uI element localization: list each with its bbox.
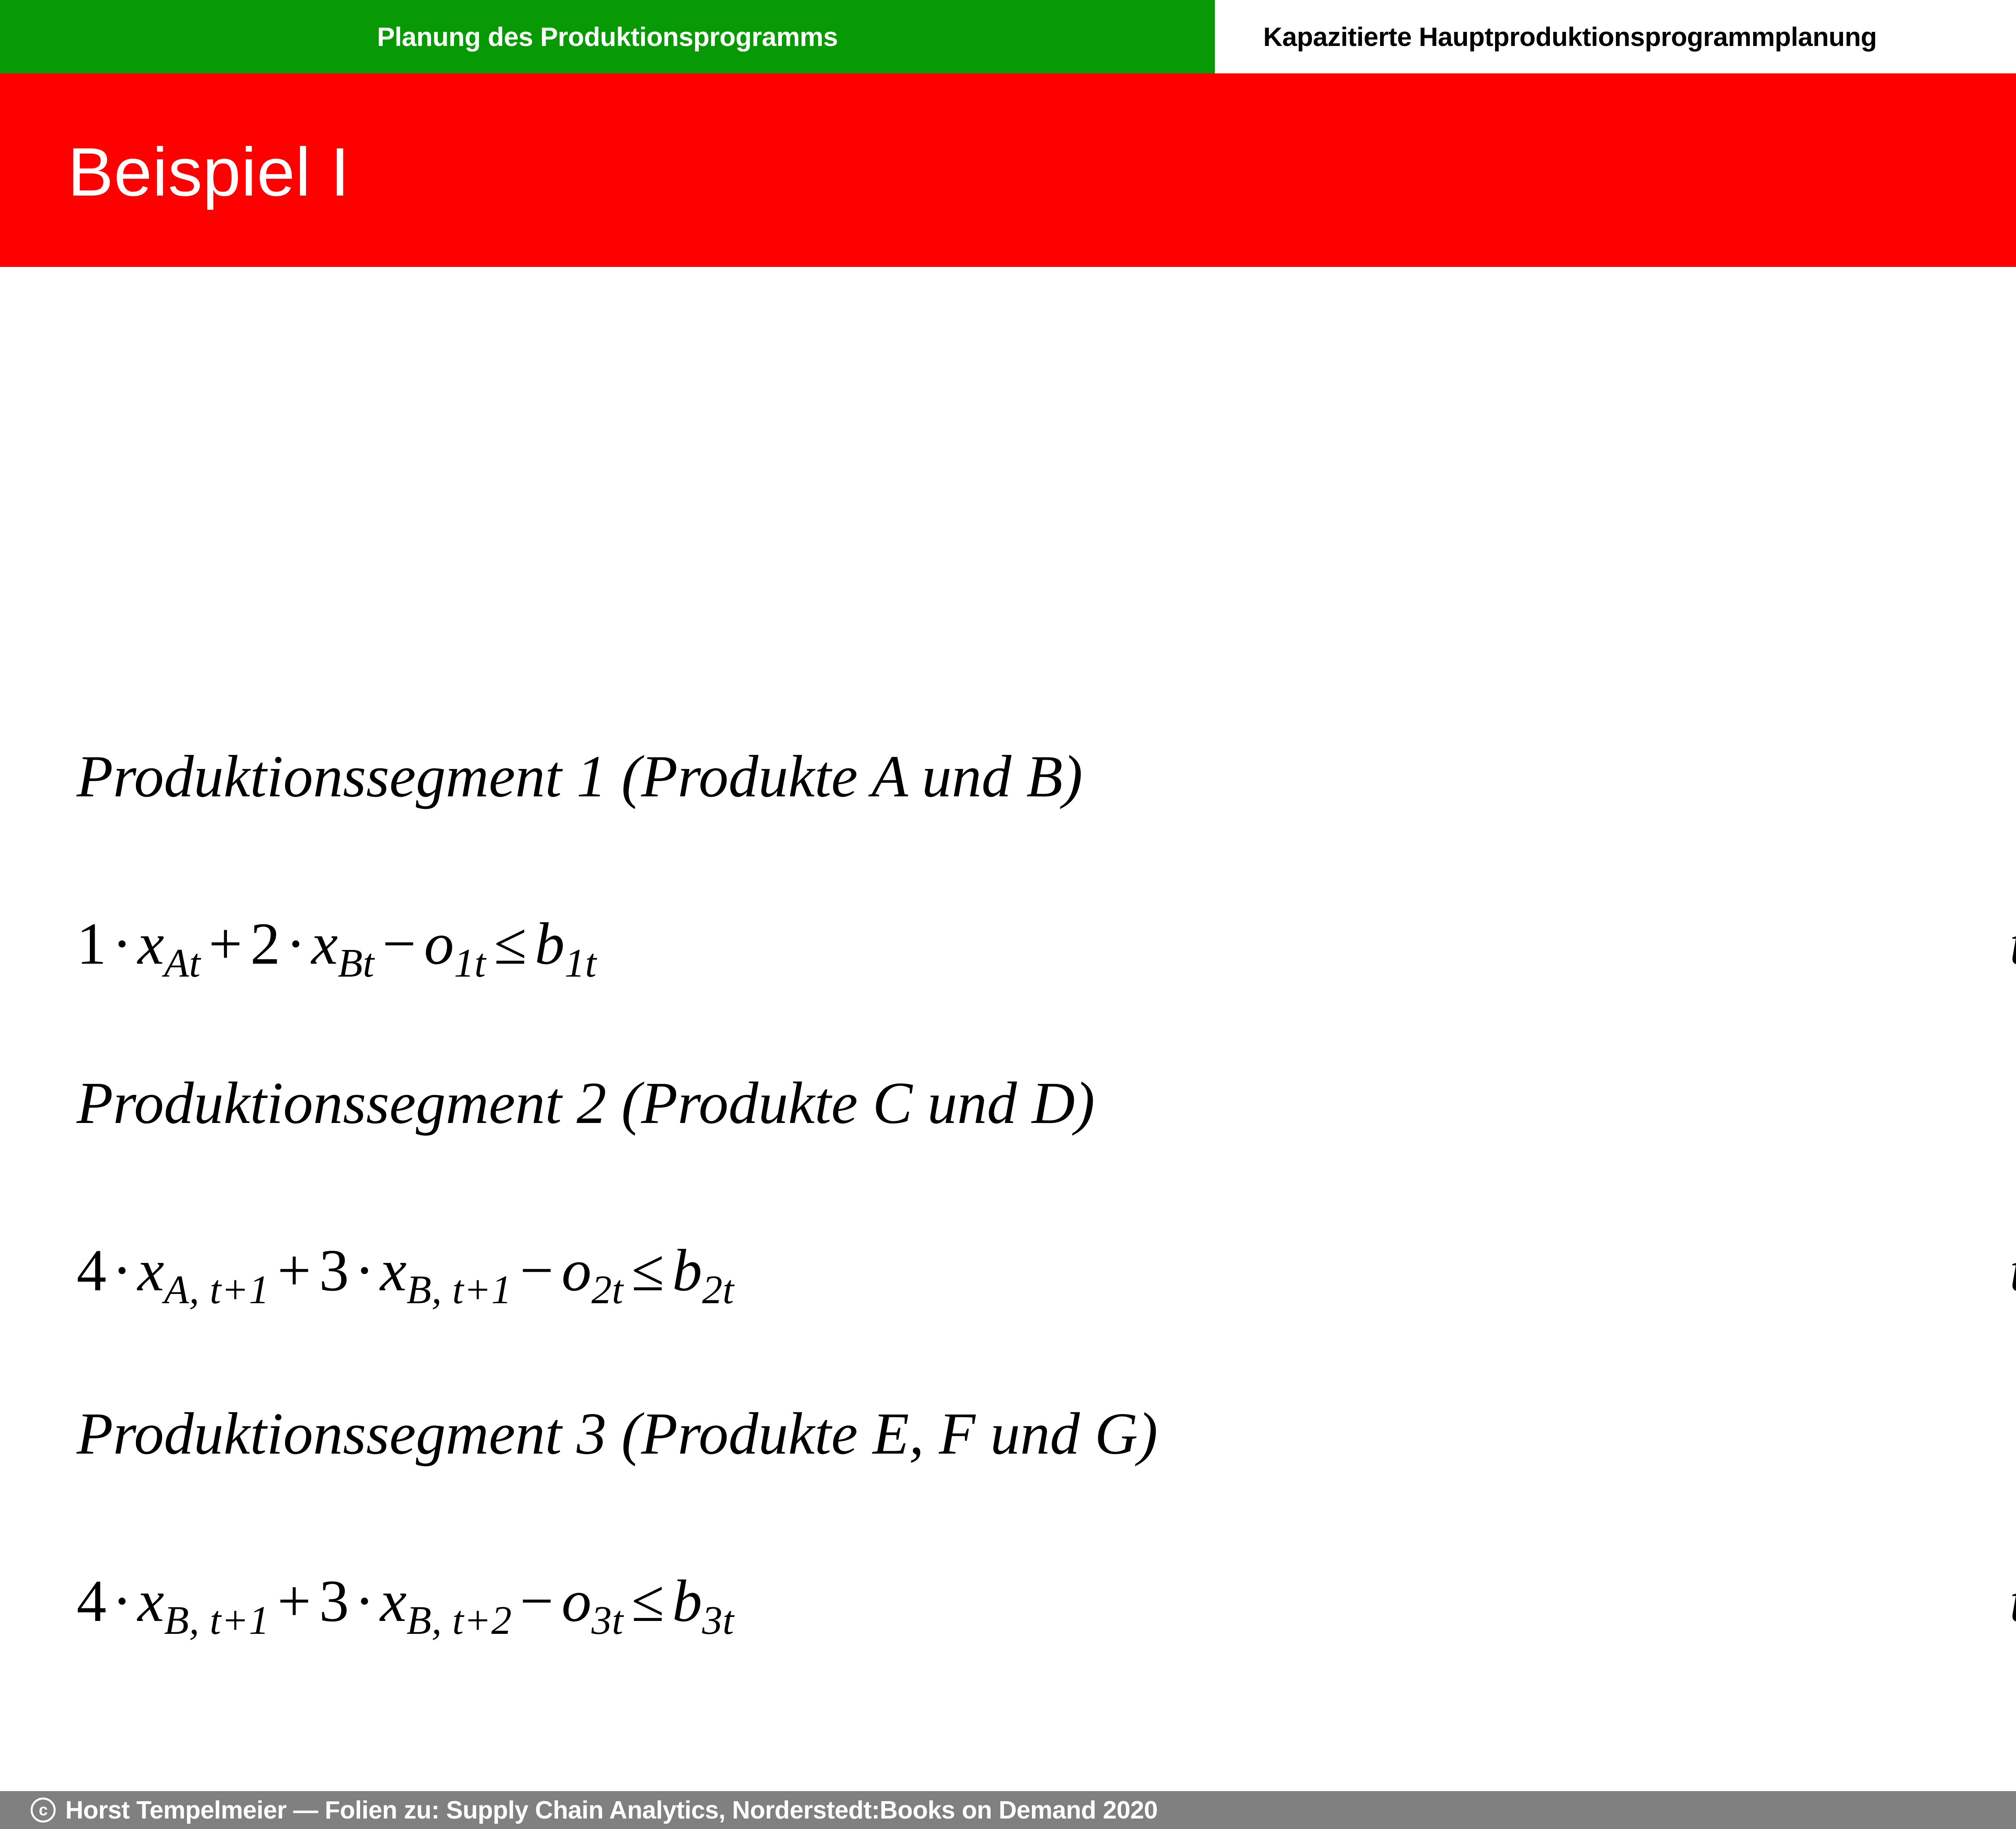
eq1-bound-var: b bbox=[535, 911, 564, 977]
eq1-op1: + bbox=[200, 911, 250, 977]
eq3-coef2: 3 bbox=[319, 1568, 349, 1634]
footer-credit-group: c Horst Tempelmeier — Folien zu: Supply … bbox=[0, 1796, 1158, 1825]
eq3-slack-sub: 3t bbox=[591, 1598, 623, 1643]
eq3-dot1: · bbox=[106, 1568, 137, 1634]
header-navigation-bar: Planung des Produktionsprogramms Kapazit… bbox=[0, 0, 2016, 73]
eq1-slack-sub: 1t bbox=[454, 940, 486, 985]
equation-row-3: 4·xB, t+1+3·xB, t+2−o3t≤b3t t = 1, 2, … … bbox=[77, 1571, 2016, 1641]
equation-3: 4·xB, t+1+3·xB, t+2−o3t≤b3t bbox=[77, 1571, 734, 1641]
equation-2-range: t = 1, 2, … , T bbox=[2010, 1241, 2016, 1300]
eq1-sub1: At bbox=[164, 940, 200, 985]
eq3-op2: − bbox=[512, 1568, 561, 1634]
eq1-dot1: · bbox=[106, 911, 137, 977]
equation-1: 1·xAt+2·xBt−o1t≤b1t bbox=[77, 914, 597, 983]
segment-heading-2: Produktionssegment 2 (Produkte C und D) bbox=[77, 1073, 2016, 1133]
eq2-relation: ≤ bbox=[623, 1237, 672, 1304]
header-subsection-tab[interactable]: Kapazitierte Hauptproduktionsprogrammpla… bbox=[1215, 0, 2016, 73]
eq3-sub2: B, t+2 bbox=[406, 1598, 512, 1643]
eq3-slack-var: o bbox=[562, 1568, 591, 1634]
eq2-bound-sub: 2t bbox=[702, 1267, 734, 1312]
eq2-dot1: · bbox=[106, 1237, 137, 1304]
eq2-slack-var: o bbox=[562, 1237, 591, 1304]
segment-heading-3: Produktionssegment 3 (Produkte E, F und … bbox=[77, 1404, 2016, 1464]
header-section-tab[interactable]: Planung des Produktionsprogramms bbox=[0, 0, 1215, 73]
eq2-dot2: · bbox=[349, 1237, 380, 1304]
eq1-bound-sub: 1t bbox=[564, 940, 596, 985]
header-subsection-label: Kapazitierte Hauptproduktionsprogrammpla… bbox=[1263, 21, 1877, 52]
eq2-coef1: 4 bbox=[77, 1237, 106, 1304]
eq3-bound-sub: 3t bbox=[702, 1598, 734, 1643]
eq3-coef1: 4 bbox=[77, 1568, 106, 1634]
eq2-coef2: 3 bbox=[319, 1237, 349, 1304]
eq2-slack-sub: 2t bbox=[591, 1267, 623, 1312]
eq1-sub2: Bt bbox=[338, 940, 374, 985]
frame-title-bar: Beispiel I bbox=[0, 73, 2016, 267]
eq3-relation: ≤ bbox=[623, 1568, 672, 1634]
eq1-var1: x bbox=[137, 911, 164, 977]
eq3-var2: x bbox=[380, 1568, 407, 1634]
eq3-op1: + bbox=[269, 1568, 319, 1634]
eq1-relation: ≤ bbox=[486, 911, 535, 977]
eq3-dot2: · bbox=[349, 1568, 380, 1634]
equation-1-range: t = 1, 2, … , T bbox=[2010, 914, 2016, 974]
eq3-bound-var: b bbox=[672, 1568, 702, 1634]
eq1-var2: x bbox=[311, 911, 338, 977]
footer-bar: c Horst Tempelmeier — Folien zu: Supply … bbox=[0, 1791, 2016, 1829]
eq2-op1: + bbox=[269, 1237, 319, 1304]
eq1-coef1: 1 bbox=[77, 911, 106, 977]
copyright-icon: c bbox=[31, 1798, 56, 1823]
equation-row-2: 4·xA, t+1+3·xB, t+1−o2t≤b2t t = 1, 2, … … bbox=[77, 1241, 2016, 1310]
footer-credit-text: Horst Tempelmeier — Folien zu: Supply Ch… bbox=[65, 1796, 1158, 1825]
page-title: Beispiel I bbox=[68, 138, 350, 206]
eq2-bound-var: b bbox=[672, 1237, 702, 1304]
slide-body: Produktionssegment 1 (Produkte A und B) … bbox=[0, 267, 2016, 1728]
eq2-sub1: A, t+1 bbox=[164, 1267, 269, 1312]
eq2-op2: − bbox=[512, 1237, 561, 1304]
eq3-sub1: B, t+1 bbox=[164, 1598, 269, 1643]
eq1-dot2: · bbox=[280, 911, 311, 977]
eq2-sub2: B, t+1 bbox=[406, 1267, 512, 1312]
equation-2: 4·xA, t+1+3·xB, t+1−o2t≤b2t bbox=[77, 1241, 734, 1310]
eq2-var1: x bbox=[137, 1237, 164, 1304]
header-section-label: Planung des Produktionsprogramms bbox=[377, 21, 838, 52]
eq1-coef2: 2 bbox=[250, 911, 280, 977]
segment-heading-1: Produktionssegment 1 (Produkte A und B) bbox=[77, 747, 2016, 806]
equation-3-range: t = 1, 2, … , T bbox=[2010, 1571, 2016, 1631]
eq1-op2: − bbox=[374, 911, 424, 977]
equation-row-1: 1·xAt+2·xBt−o1t≤b1t t = 1, 2, … , T bbox=[77, 914, 2016, 983]
eq1-slack-var: o bbox=[424, 911, 454, 977]
eq3-var1: x bbox=[137, 1568, 164, 1634]
eq2-var2: x bbox=[380, 1237, 407, 1304]
